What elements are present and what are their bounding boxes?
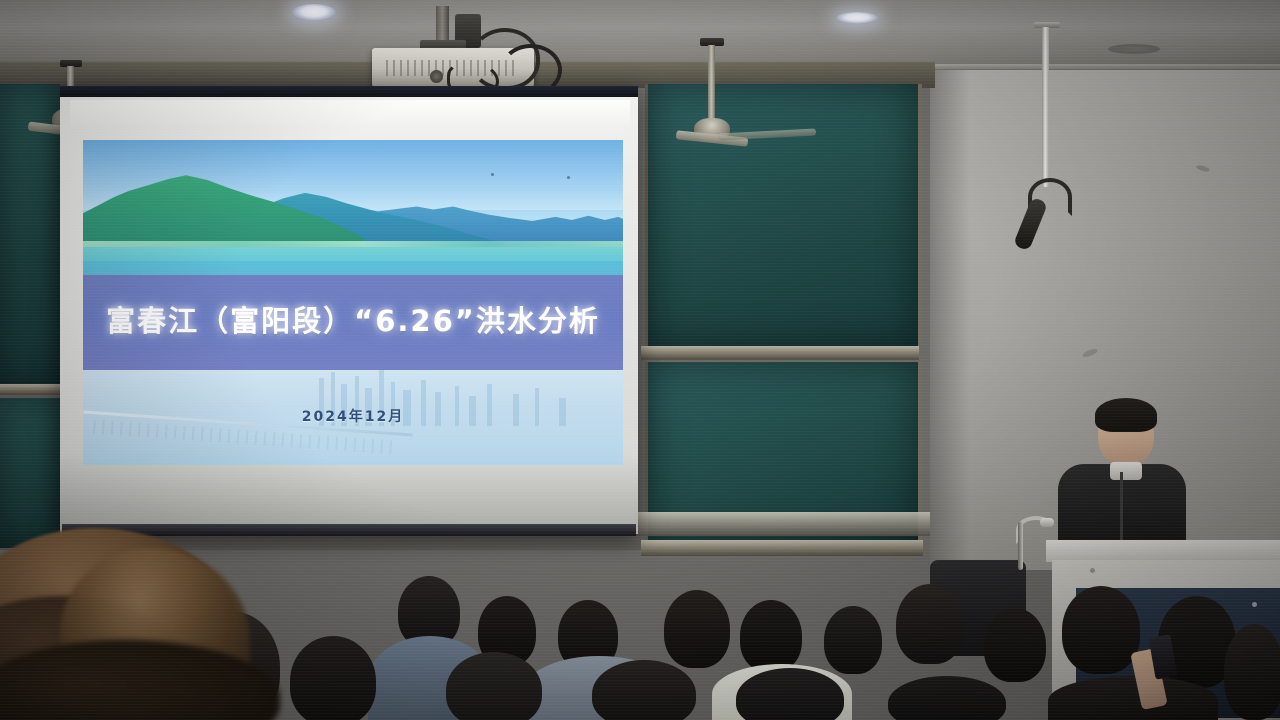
microphone-stem (1018, 522, 1023, 570)
audience-head (592, 660, 696, 720)
audience-head (290, 636, 376, 720)
slide-title: 富春江（富阳段）“6.26”洪水分析 (83, 298, 623, 340)
audience-head (740, 600, 802, 672)
bird-speck (491, 173, 494, 176)
audience-head (888, 676, 1006, 720)
slide-date: 2024年12月 (83, 406, 623, 426)
audience-head (824, 606, 882, 674)
river-water (83, 261, 623, 275)
presentation-slide: 富春江（富阳段）“6.26”洪水分析 2024年12月 (83, 140, 623, 465)
podium-surface (1046, 540, 1280, 562)
slide-footer-photo: 2024年12月 (83, 370, 623, 465)
camera-pole (1042, 27, 1049, 187)
podium-screw (1252, 602, 1257, 607)
wall-right-shadow (930, 70, 970, 570)
bird-speck (567, 176, 570, 179)
river-reflection (83, 241, 623, 263)
projector-lens-icon (430, 70, 443, 83)
podium-screw (1090, 568, 1095, 573)
lecture-hall-photo: 富春江（富阳段）“6.26”洪水分析 2024年12月 (0, 0, 1280, 720)
blackboard-panel-left-lower (0, 398, 60, 548)
ceiling-vent-icon (1108, 44, 1160, 54)
screen-bottom-bar (62, 524, 636, 536)
presenter-jacket-zip (1120, 472, 1123, 542)
downlight-icon (836, 12, 878, 24)
screen-top-bar (60, 86, 638, 97)
audience-shoulders (1048, 676, 1218, 720)
downlight-icon (292, 4, 336, 21)
presenter-hair (1095, 398, 1157, 432)
slide-header-photo (83, 140, 623, 275)
audience-head (984, 608, 1046, 682)
chalk-rail-right-upper (641, 346, 919, 360)
chalk-rail-left (0, 384, 62, 395)
audience-head (446, 652, 542, 720)
audience-head (896, 584, 964, 664)
audience-head (664, 590, 730, 668)
chalk-rail-right-lower (641, 540, 923, 556)
screen-highlight (70, 100, 630, 130)
presenter-collar (1110, 462, 1142, 480)
audience-head (1062, 586, 1140, 674)
stage-ledge (600, 512, 930, 536)
microphone-capsule-icon (1040, 518, 1054, 527)
audience-head (1224, 624, 1280, 720)
blackboard-panel-right-upper (645, 84, 922, 346)
